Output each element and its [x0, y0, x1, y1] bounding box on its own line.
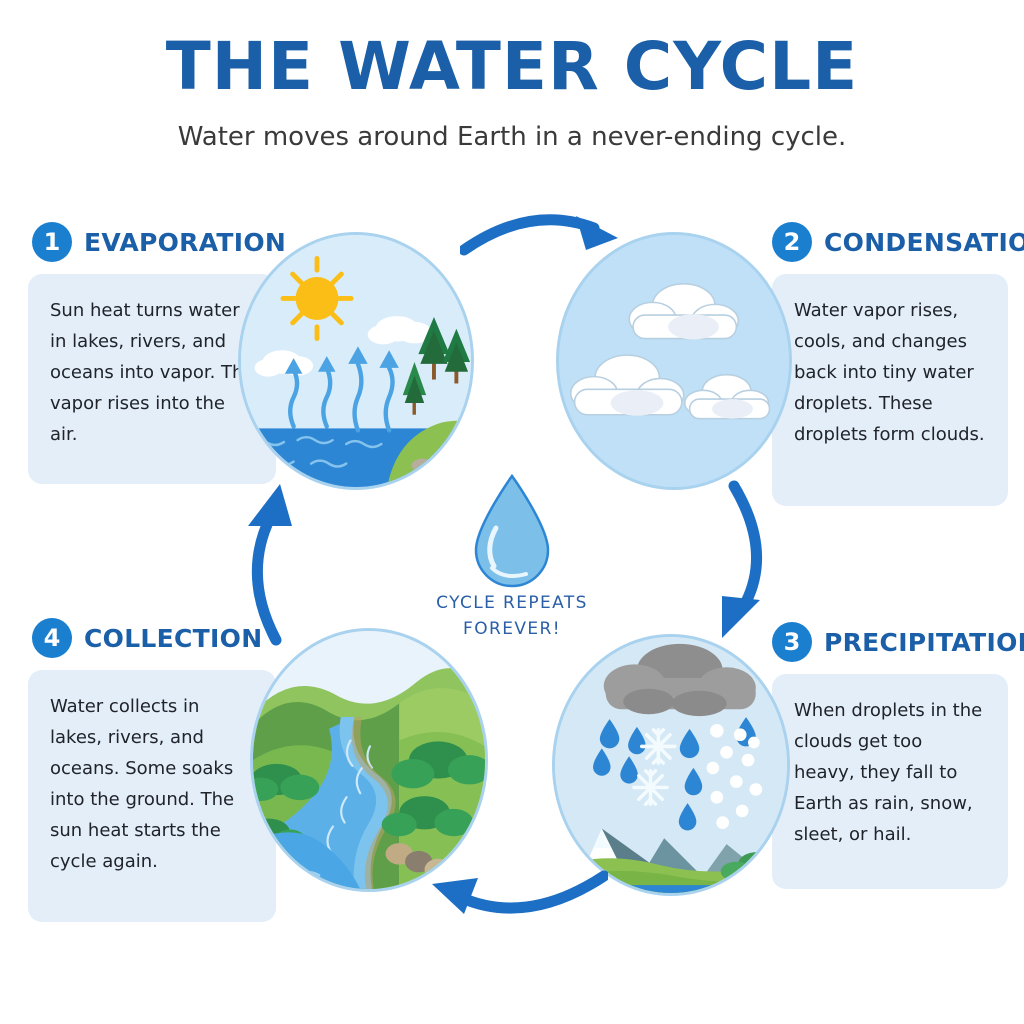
step-description-collection: Water collects in lakes, rivers, and oce…	[28, 670, 276, 922]
step-number-badge-2: 2	[772, 222, 812, 262]
rock	[438, 450, 457, 462]
arrow-condensation-to-precipitation	[688, 480, 818, 650]
evaporation-scene	[238, 232, 474, 490]
step-number-badge-4: 4	[32, 618, 72, 658]
arrow-precipitation-to-collection	[418, 852, 608, 932]
step-description-precipitation: When droplets in the clouds get too heav…	[772, 674, 1008, 889]
water-droplet-icon	[462, 472, 562, 592]
page-subtitle: Water moves around Earth in a never-endi…	[0, 122, 1024, 152]
page-title: THE WATER CYCLE	[0, 28, 1024, 105]
cycle-caption-line-2: FOREVER!	[412, 616, 612, 642]
rock	[412, 459, 433, 473]
infographic-canvas: THE WATER CYCLE Water moves around Earth…	[0, 0, 1024, 1024]
step-evaporation-header: 1 EVAPORATION	[32, 222, 286, 262]
step-description-condensation: Water vapor rises, cools, and changes ba…	[772, 274, 1008, 506]
step-number-badge-1: 1	[32, 222, 72, 262]
arrow-evaporation-to-condensation	[460, 198, 640, 278]
step-condensation-header: 2 CONDENSATION	[772, 222, 1024, 262]
snowflake-icon	[642, 730, 675, 763]
step-title-evaporation: EVAPORATION	[84, 228, 286, 257]
snowflake-icon	[634, 771, 667, 804]
arrow-collection-to-evaporation	[222, 476, 332, 646]
cycle-repeats-caption: CYCLE REPEATS FOREVER!	[412, 590, 612, 643]
bush	[721, 862, 752, 882]
step-title-condensation: CONDENSATION	[824, 228, 1024, 257]
cycle-caption-line-1: CYCLE REPEATS	[412, 590, 612, 616]
step-title-precipitation: PRECIPITATION	[824, 628, 1024, 657]
